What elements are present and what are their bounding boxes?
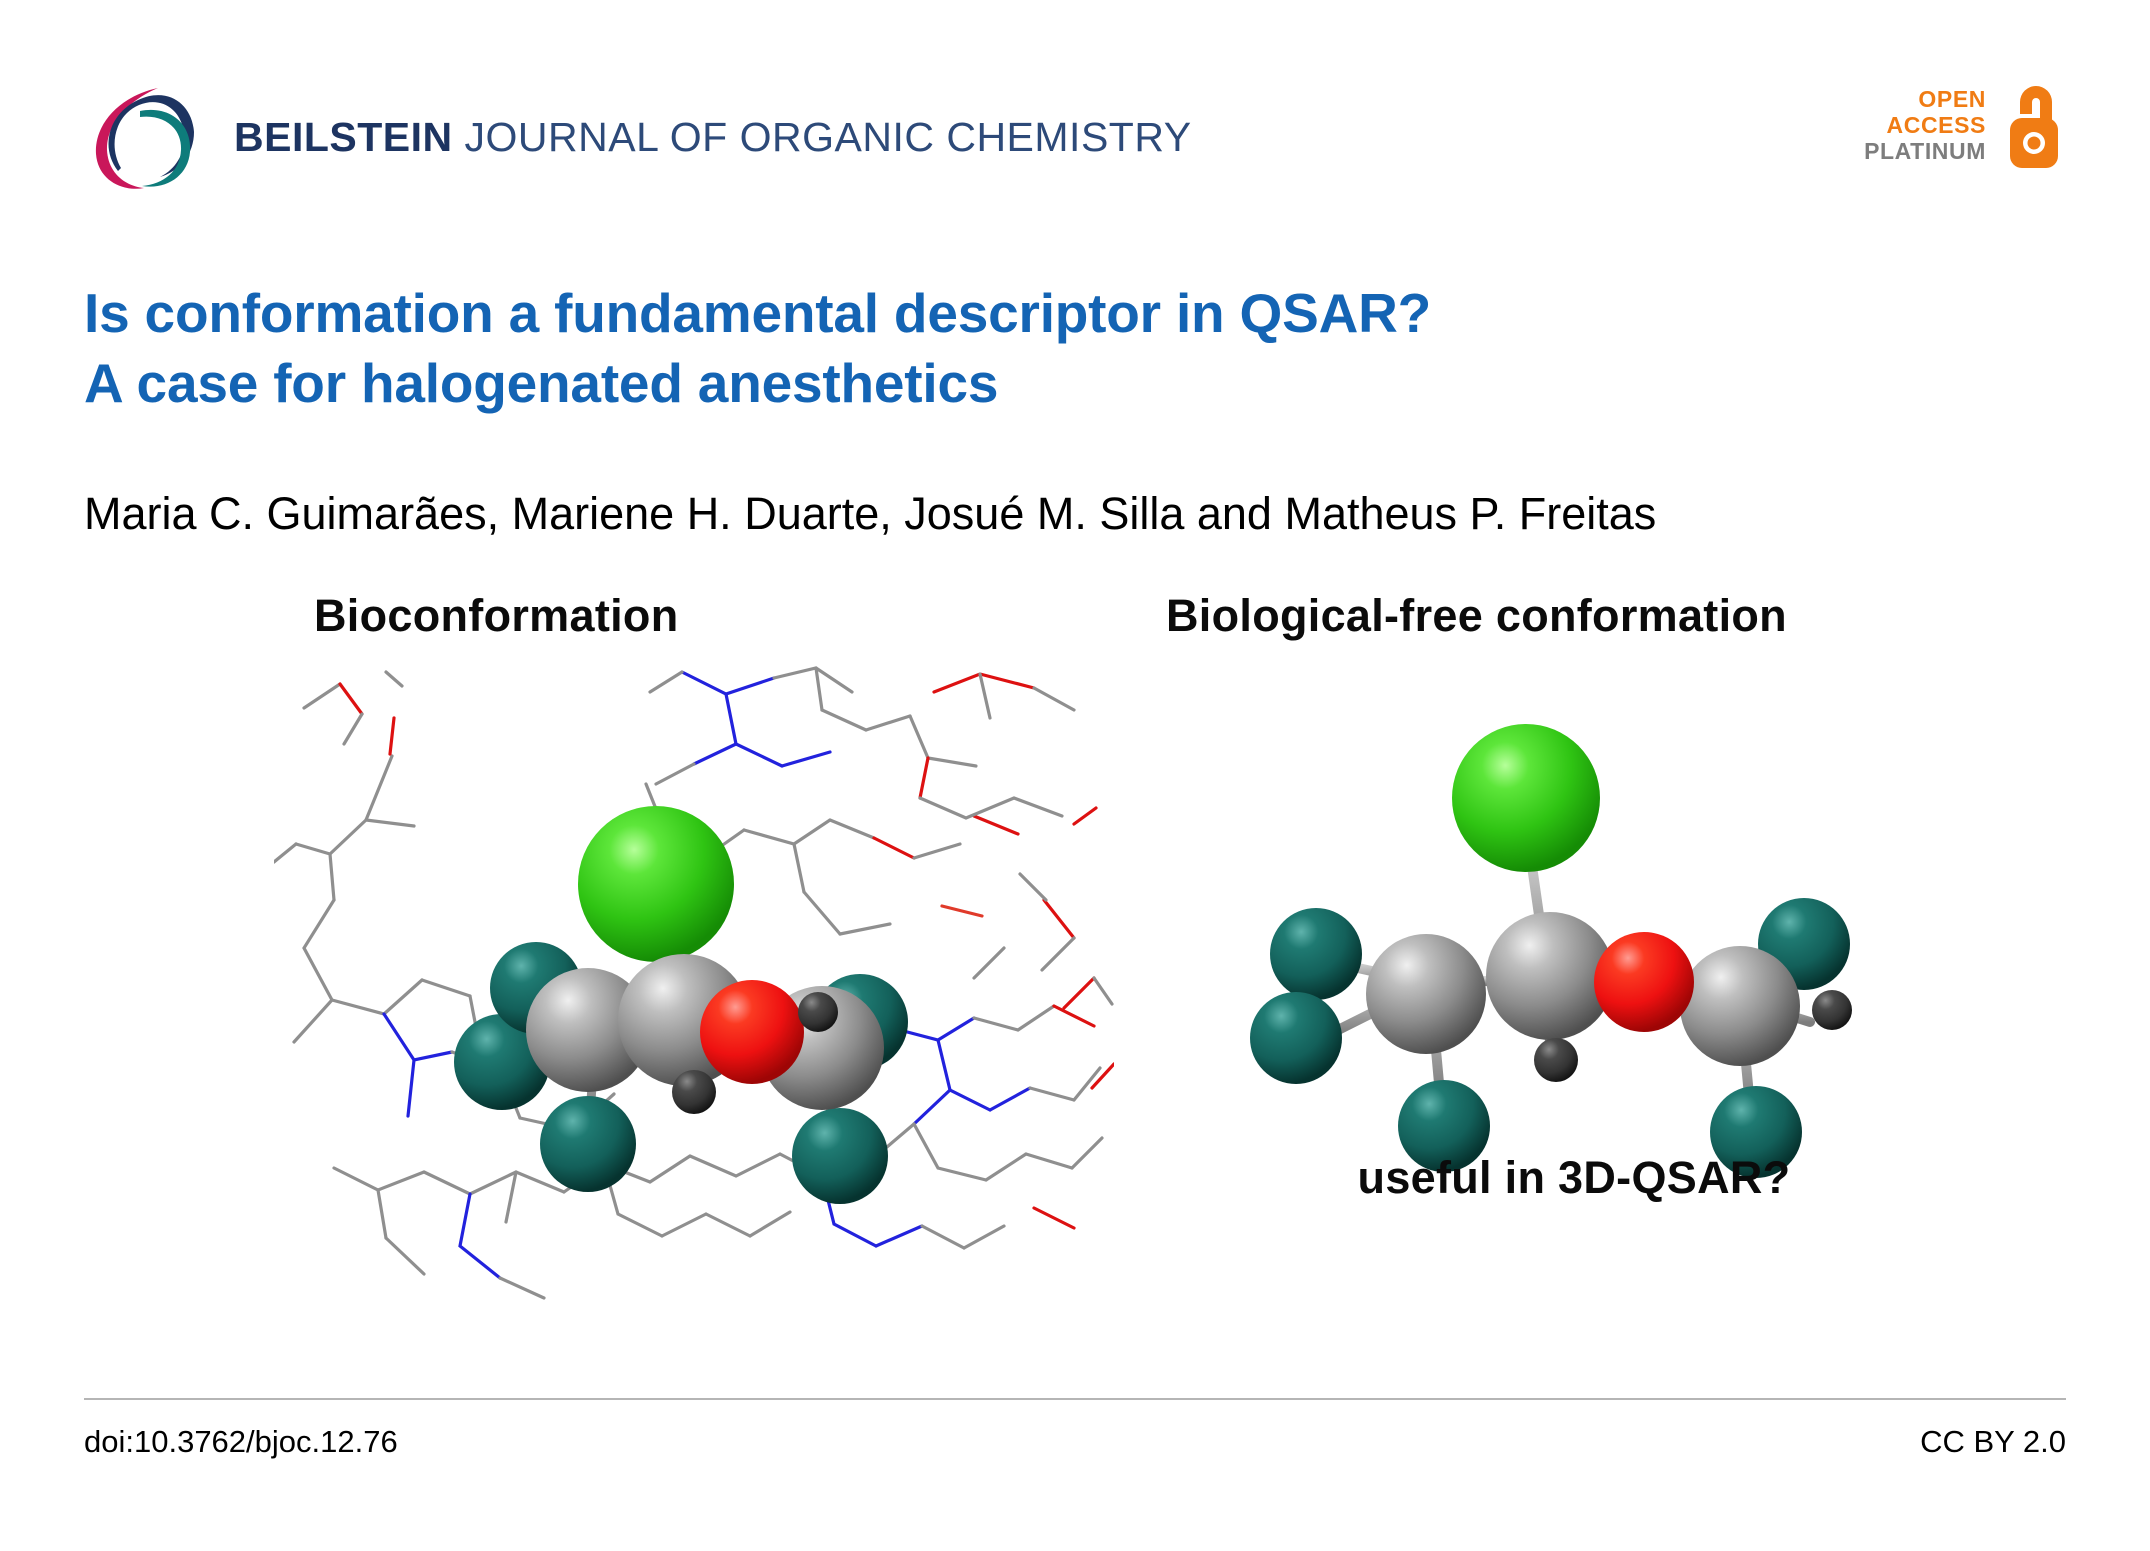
panel-biological-free-conformation: Biological-free conformation xyxy=(1144,590,2004,1380)
open-padlock-icon xyxy=(2000,80,2064,172)
panel-biological-free-subcaption: useful in 3D-QSAR? xyxy=(1144,1152,2004,1204)
open-access-text: OPEN ACCESS PLATINUM xyxy=(1864,87,1986,164)
panel-bioconformation-caption: Bioconformation xyxy=(274,590,1154,642)
journal-brand[interactable]: BEILSTEIN JOURNAL OF ORGANIC CHEMISTRY xyxy=(84,76,1192,194)
wordmark-beilstein: BEILSTEIN xyxy=(234,114,453,160)
footer-divider xyxy=(84,1398,2066,1400)
article-title-line-1: Is conformation a fundamental descriptor… xyxy=(84,278,1984,348)
panel-bioconformation: Bioconformation xyxy=(274,590,1114,1380)
graphical-abstract-page: BEILSTEIN JOURNAL OF ORGANIC CHEMISTRY O… xyxy=(0,0,2150,1551)
open-access-line-access: ACCESS xyxy=(1864,113,1986,139)
bioconformation-molecule-render xyxy=(274,648,1114,1308)
open-access-line-platinum: PLATINUM xyxy=(1864,139,1986,165)
journal-wordmark: BEILSTEIN JOURNAL OF ORGANIC CHEMISTRY xyxy=(234,113,1192,158)
open-access-line-open: OPEN xyxy=(1864,87,1986,113)
masthead: BEILSTEIN JOURNAL OF ORGANIC CHEMISTRY O… xyxy=(0,0,2150,220)
article-title: Is conformation a fundamental descriptor… xyxy=(84,278,1984,419)
biological-free-molecule-render xyxy=(1144,648,2004,1308)
page-footer: doi:10.3762/bjoc.12.76 CC BY 2.0 xyxy=(84,1424,2066,1460)
doi-text[interactable]: doi:10.3762/bjoc.12.76 xyxy=(84,1424,398,1460)
author-list: Maria C. Guimarães, Mariene H. Duarte, J… xyxy=(84,486,2044,542)
beilstein-swirl-logo-icon xyxy=(84,76,202,194)
wordmark-journal-of-organic-chemistry: JOURNAL OF ORGANIC CHEMISTRY xyxy=(453,114,1192,160)
article-title-line-2: A case for halogenated anesthetics xyxy=(84,348,1984,418)
open-access-badge[interactable]: OPEN ACCESS PLATINUM xyxy=(1864,80,2064,172)
graphical-abstract-figure: Bioconformation xyxy=(84,590,2066,1380)
license-text[interactable]: CC BY 2.0 xyxy=(1920,1424,2066,1460)
panel-biological-free-caption: Biological-free conformation xyxy=(1144,590,2026,642)
